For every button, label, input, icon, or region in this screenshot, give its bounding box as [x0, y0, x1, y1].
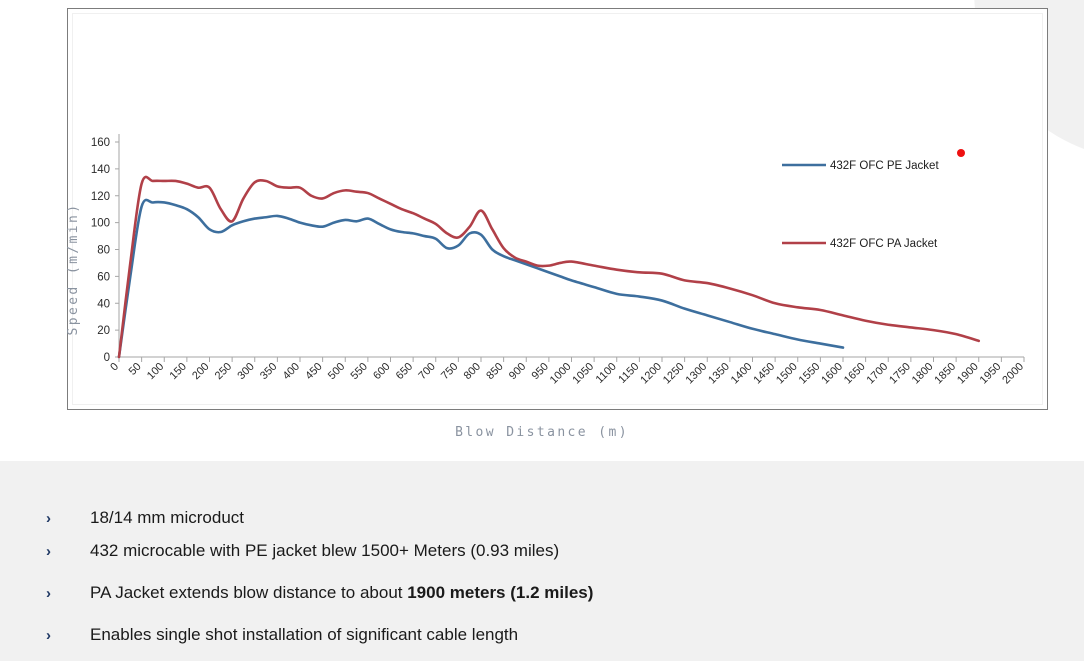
x-tick-label: 1150 [616, 361, 641, 386]
x-tick-label: 1850 [932, 361, 958, 387]
x-tick-label: 800 [462, 361, 483, 382]
x-tick-label: 1100 [594, 361, 619, 386]
x-tick-label: 200 [190, 361, 211, 382]
x-tick-label: 1450 [751, 361, 777, 387]
x-tick-label: 850 [484, 361, 505, 382]
x-tick-label: 1000 [548, 361, 574, 387]
x-tick-label: 150 [168, 361, 189, 382]
bullet-text: Enables single shot installation of sign… [90, 625, 518, 645]
x-tick-label: 1350 [706, 361, 732, 387]
x-tick-label: 2000 [1000, 361, 1026, 387]
chevron-right-icon: › [46, 510, 90, 527]
x-tick-label: 1250 [661, 361, 687, 387]
y-tick-label: 80 [97, 245, 110, 257]
chevron-right-icon: › [46, 627, 90, 644]
x-tick-label: 450 [303, 361, 324, 382]
x-tick-label: 1750 [887, 361, 913, 387]
x-axis-ticks: 0501001502002503003504004505005506006507… [108, 357, 1026, 386]
x-tick-label: 650 [394, 361, 415, 382]
x-tick-label: 700 [416, 361, 437, 382]
bullet-list-panel: ›18/14 mm microduct›432 microcable with … [0, 461, 1084, 661]
bullet-text: PA Jacket extends blow distance to about… [90, 583, 593, 603]
x-tick-label: 600 [371, 361, 392, 382]
chart-legend: 432F OFC PE Jacket432F OFC PA Jacket [782, 160, 939, 250]
bullet-item: ›PA Jacket extends blow distance to abou… [46, 583, 593, 603]
legend-label-pe-jacket: 432F OFC PE Jacket [830, 160, 939, 172]
bullet-item: ›18/14 mm microduct [46, 508, 244, 528]
x-tick-label: 1200 [638, 361, 664, 387]
x-tick-label: 1300 [684, 361, 710, 387]
y-tick-label: 40 [97, 298, 110, 310]
y-tick-label: 100 [91, 218, 110, 230]
line-chart-plot: 020406080100120140160 050100150200250300… [68, 9, 1049, 411]
y-axis-title: Speed (m/min) [66, 129, 81, 409]
y-tick-label: 120 [91, 191, 110, 203]
data-series-group [119, 177, 979, 357]
chart-panel: Speed (m/min) 020406080100120140160 0501… [67, 8, 1048, 410]
bullet-item: ›Enables single shot installation of sig… [46, 625, 518, 645]
x-tick-label: 1700 [865, 361, 891, 387]
y-tick-label: 60 [97, 271, 110, 283]
chevron-right-icon: › [46, 585, 90, 602]
x-tick-label: 1550 [797, 361, 823, 387]
x-tick-label: 550 [349, 361, 370, 382]
series-line-pa-jacket [119, 177, 979, 357]
bullet-text-emphasis: 1900 meters (1.2 miles) [407, 583, 593, 602]
y-tick-label: 20 [97, 325, 110, 337]
y-tick-label: 140 [91, 164, 110, 176]
red-cursor-dot [957, 149, 965, 157]
series-line-pe-jacket [119, 200, 843, 357]
x-tick-label: 0 [108, 361, 121, 374]
y-axis-ticks: 020406080100120140160 [91, 137, 119, 364]
y-tick-label: 0 [104, 352, 110, 364]
x-tick-label: 400 [281, 361, 302, 382]
x-tick-label: 1400 [729, 361, 755, 387]
x-tick-label: 1950 [978, 361, 1004, 387]
x-tick-label: 1600 [819, 361, 845, 387]
x-tick-label: 100 [145, 361, 166, 382]
bullet-item: ›432 microcable with PE jacket blew 1500… [46, 541, 559, 561]
x-tick-label: 1800 [910, 361, 936, 387]
x-tick-label: 1500 [774, 361, 800, 387]
y-tick-label: 160 [91, 137, 110, 149]
x-tick-label: 1050 [570, 361, 596, 387]
x-tick-label: 300 [235, 361, 256, 382]
bullet-text: 432 microcable with PE jacket blew 1500+… [90, 541, 559, 561]
x-tick-label: 350 [258, 361, 279, 382]
x-tick-label: 1650 [842, 361, 868, 387]
x-axis-title: Blow Distance (m) [0, 425, 1084, 440]
x-tick-label: 50 [127, 361, 144, 378]
legend-label-pa-jacket: 432F OFC PA Jacket [830, 238, 938, 250]
x-tick-label: 1900 [955, 361, 981, 387]
x-tick-label: 500 [326, 361, 347, 382]
chevron-right-icon: › [46, 543, 90, 560]
bullet-text: 18/14 mm microduct [90, 508, 244, 528]
x-tick-label: 900 [507, 361, 528, 382]
x-tick-label: 750 [439, 361, 460, 382]
x-tick-label: 250 [213, 361, 234, 382]
